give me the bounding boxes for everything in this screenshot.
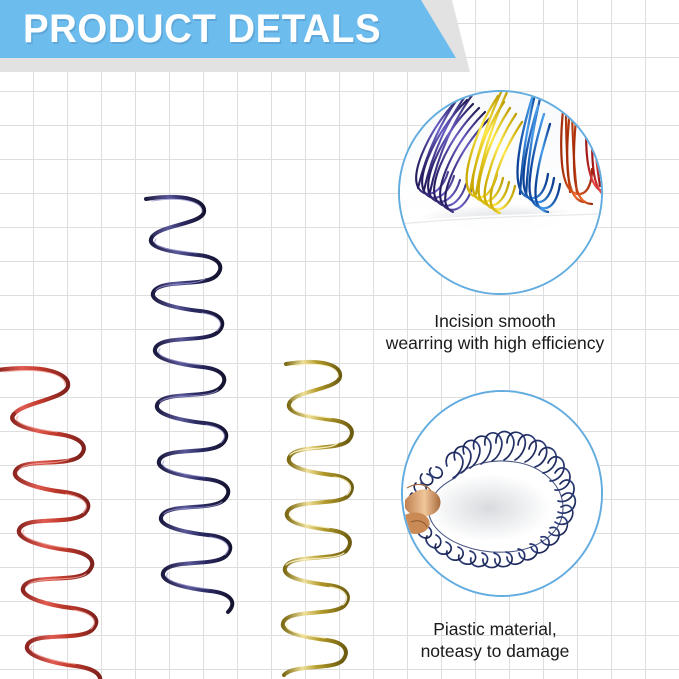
feature-material-image — [403, 392, 601, 595]
navy-spiral-coil — [118, 193, 248, 623]
caption-line-1: Incision smooth — [345, 310, 645, 332]
feature-material-caption: Piastic material, noteasy to damage — [345, 618, 645, 663]
page-title: PRODUCT DETALS — [0, 9, 381, 49]
feature-incision-caption: Incision smooth wearring with high effic… — [345, 310, 645, 355]
product-details-banner: PRODUCT DETALS — [0, 0, 456, 58]
feature-incision-image — [400, 92, 601, 293]
caption-line-2: wearring with high efficiency — [345, 332, 645, 354]
caption-line-1: Piastic material, — [345, 618, 645, 640]
caption-line-2: noteasy to damage — [345, 640, 645, 662]
product-details-page: PRODUCT DETALS — [0, 0, 679, 679]
